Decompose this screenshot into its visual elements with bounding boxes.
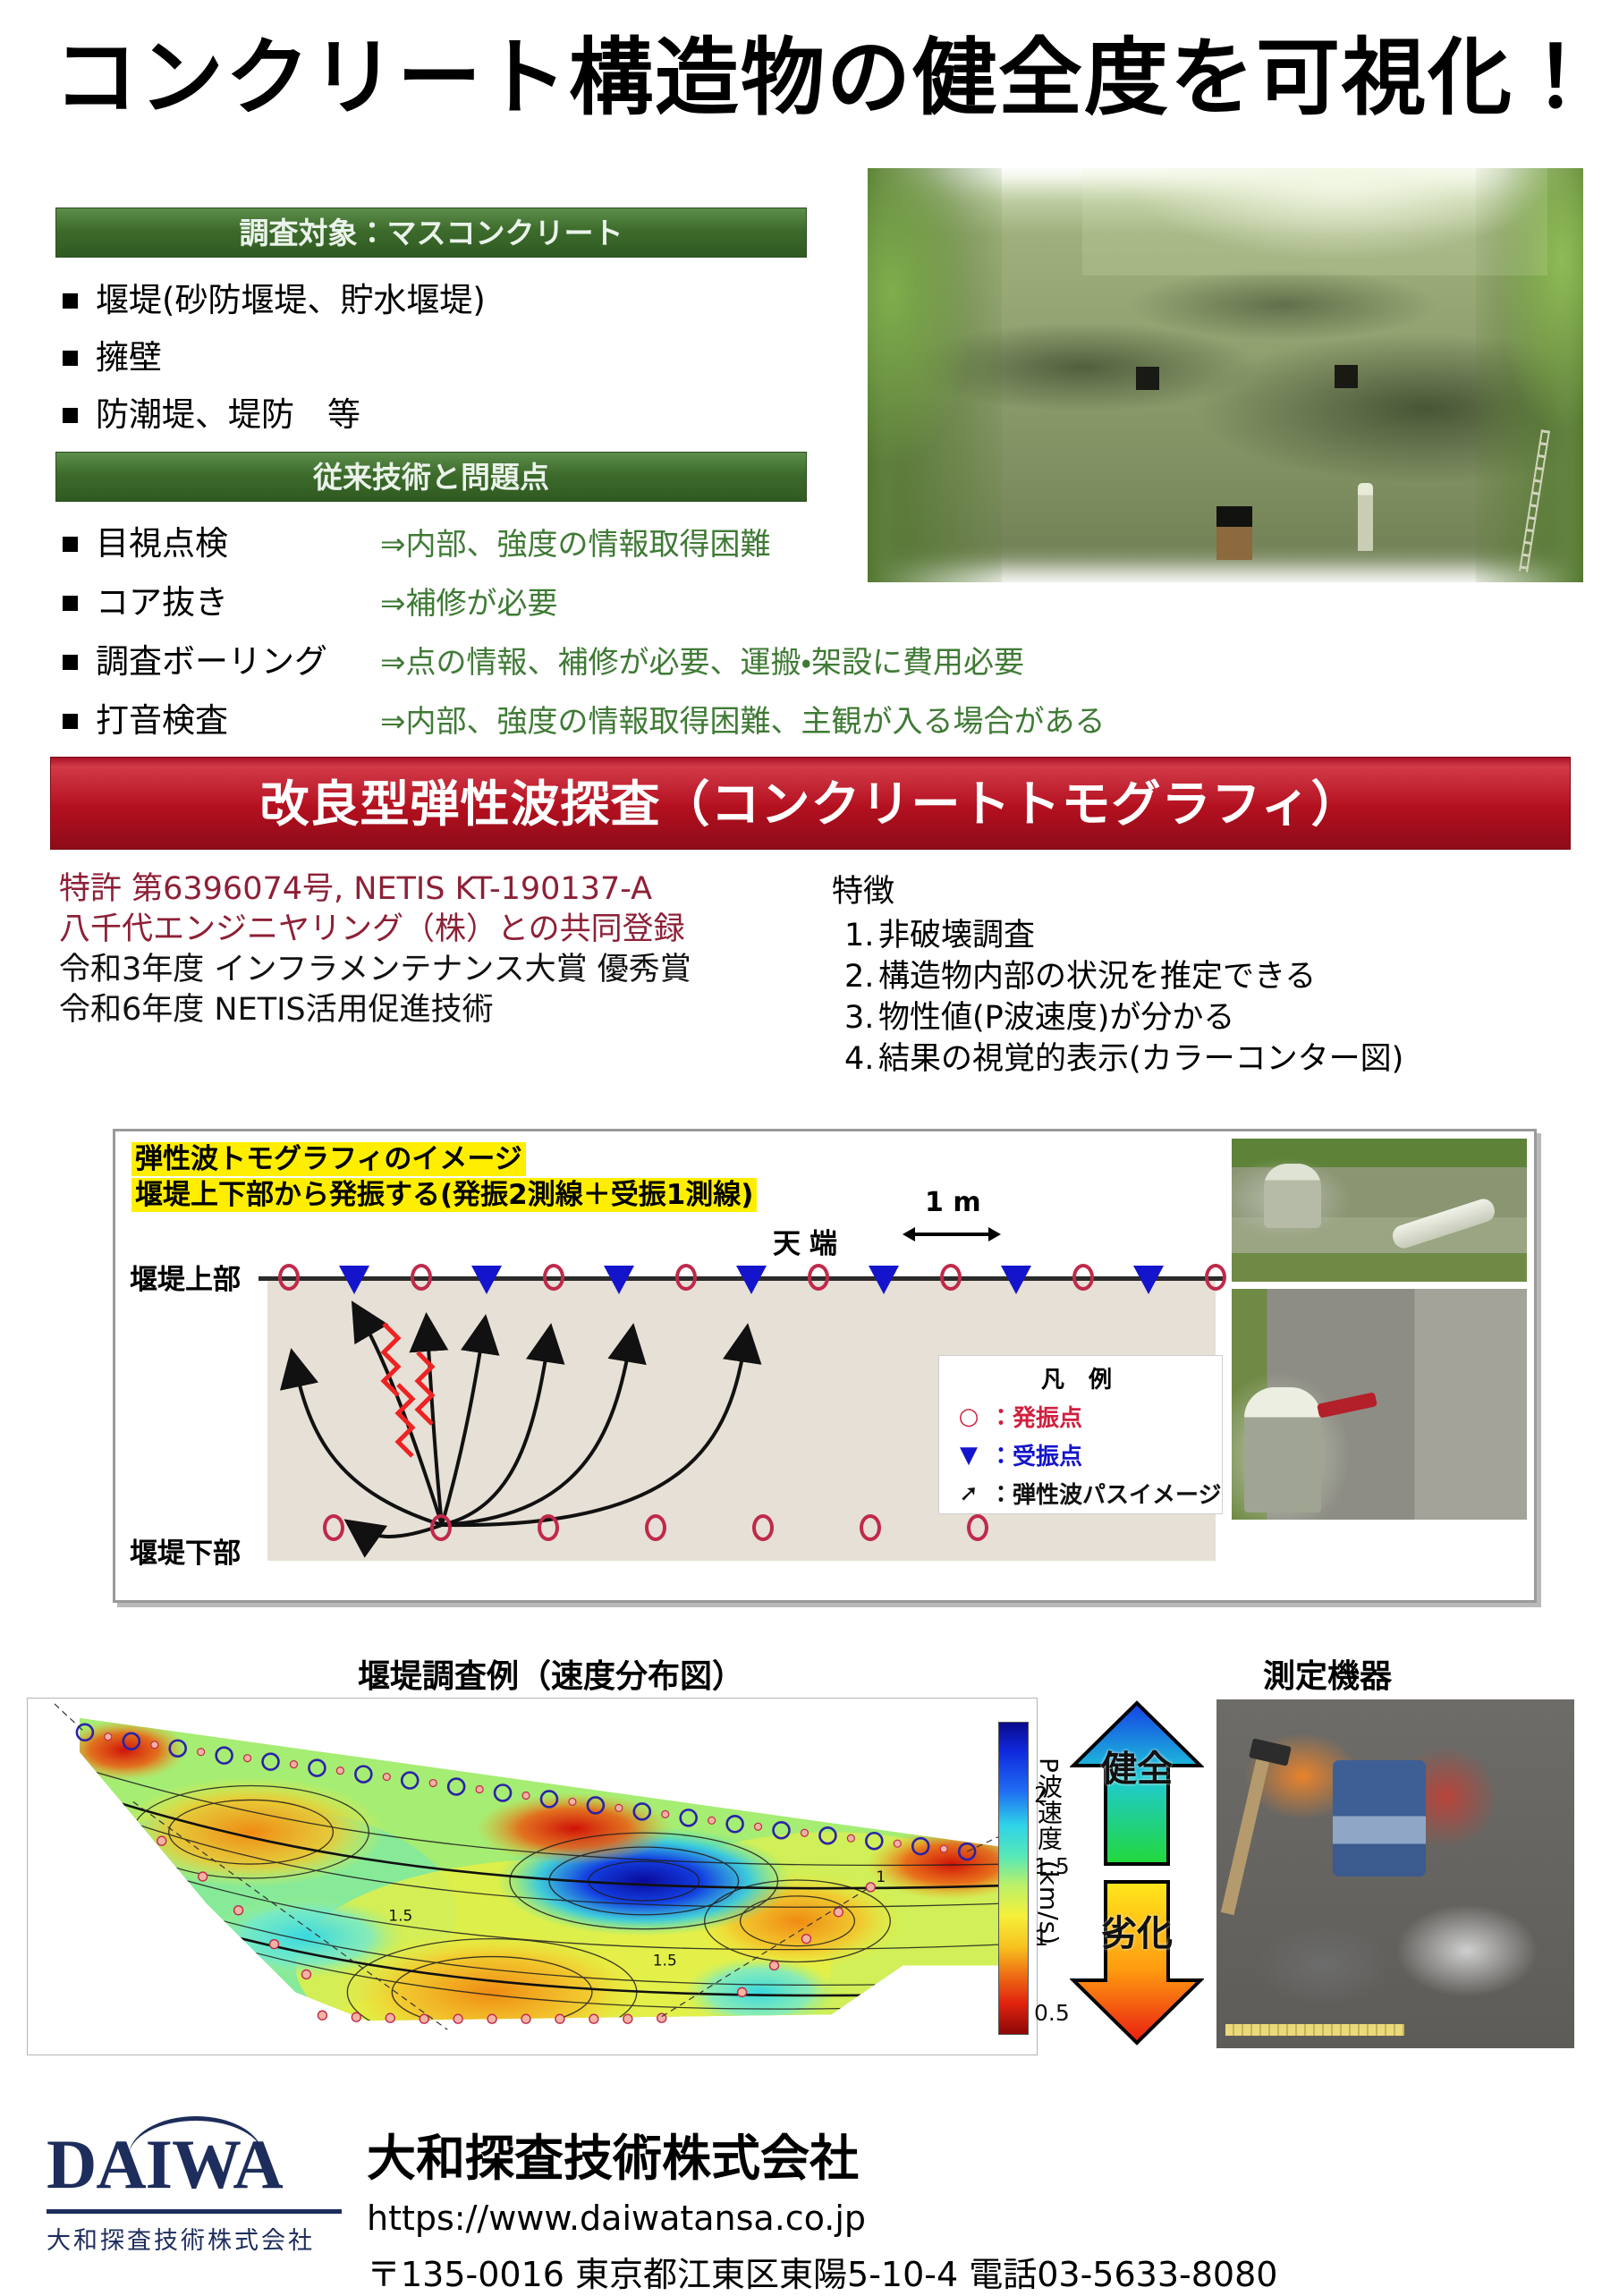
svg-text:1.5: 1.5 xyxy=(388,1907,412,1925)
worker-figure xyxy=(1244,1387,1321,1512)
company-address: 〒135-0016 東京都江東区東陽5-10-4 電話03-5633-8080 xyxy=(367,2247,1583,2296)
source-point-marker xyxy=(752,1514,774,1541)
svg-text:1: 1 xyxy=(876,1868,886,1885)
healthy-up-arrow: 健全 xyxy=(1070,1699,1204,1868)
sky-region xyxy=(1082,168,1547,275)
source-point-marker xyxy=(940,1264,962,1291)
field-photo-wall-survey xyxy=(1232,1289,1527,1520)
receiver-point-marker xyxy=(339,1266,369,1294)
measurement-equipment-photo xyxy=(1216,1699,1574,2048)
logo-rule xyxy=(47,2209,342,2214)
features-block: 特徴 1.非破壊調査 2.構造物内部の状況を推定できる 3.物性値(P波速度)が… xyxy=(832,866,1565,1080)
source-point-marker xyxy=(645,1514,666,1541)
schematic-title-line2: 堰堤上下部から発振する(発振2測線＋受振1測線) xyxy=(131,1178,757,1212)
logo-subtitle: 大和探査技術株式会社 xyxy=(47,2221,342,2256)
colorbar-axis-label: P波速度 (km/s) xyxy=(1030,1758,1066,1945)
svg-text:1.5: 1.5 xyxy=(653,1952,677,1970)
list-item: 4.結果の視覚的表示(カラーコンター図) xyxy=(832,1038,1565,1080)
receiver-point-marker xyxy=(869,1266,899,1294)
velocity-tomogram-chart: 1.5 1.5 1 凡例 ⊙ 起震点 ◎ 受振点 xyxy=(27,1698,1038,2055)
table-row: コア抜き⇒補修が必要 xyxy=(63,575,1404,623)
award-line: 令和3年度 インフラメンテナンス大賞 優秀賞 xyxy=(59,950,819,990)
seismograph-unit xyxy=(1333,1760,1426,1877)
schematic-legend: 凡 例 ○ ：発振点 ▼ ：受振点 ➚ ：弾性波パスイメージ xyxy=(938,1355,1223,1514)
receiver-triangle-icon: ▼ xyxy=(948,1442,989,1469)
receiver-point-marker xyxy=(471,1266,502,1294)
tomogram-colorfield: 1.5 1.5 1 xyxy=(28,1699,1037,2055)
survey-target-list: 堰堤(砂防堰堤、貯水堰堤) 擁壁 防潮堤、堤防 等 xyxy=(63,273,805,445)
company-name: 大和探査技術株式会社 xyxy=(367,2118,1583,2190)
features-heading: 特徴 xyxy=(832,866,1565,911)
hammer-tool xyxy=(1317,1392,1377,1418)
source-point-marker xyxy=(543,1264,564,1291)
list-item: 2.構造物内部の状況を推定できる xyxy=(832,956,1565,997)
technology-banner: 改良型弾性波探査（コンクリートトモグラフィ） xyxy=(50,757,1571,850)
label-dam-lower: 堰堤下部 xyxy=(130,1530,241,1571)
features-list: 1.非破壊調査 2.構造物内部の状況を推定できる 3.物性値(P波速度)が分かる… xyxy=(832,915,1565,1080)
company-logo: DAIWA 大和探査技術株式会社 xyxy=(47,2122,342,2274)
patent-info: 特許 第6396074号, NETIS KT-190137-A 八千代エンジニヤ… xyxy=(59,869,819,1030)
drain-hole xyxy=(1335,365,1358,388)
source-point-marker xyxy=(1072,1264,1094,1291)
receiver-point-marker xyxy=(1133,1266,1164,1294)
tomogram-caption: 堰堤調査例（速度分布図） xyxy=(358,1650,744,1697)
source-point-marker xyxy=(967,1514,988,1541)
square-bullet-icon xyxy=(63,537,78,552)
legend-row-source: ○ ：発振点 xyxy=(948,1400,1213,1433)
scale-double-arrow-icon xyxy=(903,1224,1001,1244)
square-bullet-icon xyxy=(63,351,78,366)
company-contact: 大和探査技術株式会社 https://www.daiwatansa.co.jp … xyxy=(367,2118,1583,2296)
source-point-marker xyxy=(808,1264,829,1291)
source-point-marker xyxy=(675,1264,697,1291)
source-point-marker xyxy=(538,1514,559,1541)
square-bullet-icon xyxy=(63,293,78,309)
source-point-marker xyxy=(860,1514,881,1541)
square-bullet-icon xyxy=(63,596,78,611)
receiver-point-marker xyxy=(1001,1266,1031,1294)
scale-label: 1 m xyxy=(925,1187,981,1218)
legend-row-path: ➚ ：弾性波パスイメージ xyxy=(948,1477,1213,1510)
source-circle-icon: ○ xyxy=(948,1403,989,1430)
healthy-label: 健全 xyxy=(1070,1750,1204,1789)
receiver-point-marker xyxy=(604,1266,634,1294)
list-item: 擁壁 xyxy=(63,330,805,378)
survey-target-banner: 調査対象：マスコンクリート xyxy=(55,208,807,258)
legacy-tech-list: 目視点検⇒内部、強度の情報取得困難 コア抜き⇒補修が必要 調査ボーリング⇒点の情… xyxy=(63,516,1404,752)
measuring-tape xyxy=(1225,2024,1404,2036)
table-row: 調査ボーリング⇒点の情報、補修が必要、運搬・架設に費用必要 xyxy=(63,634,1404,682)
award-line: 令和6年度 NETIS活用促進技術 xyxy=(59,990,819,1030)
patent-line: 八千代エンジニヤリング（株）との共同登録 xyxy=(59,910,819,950)
colorbar-tick: 0.5 xyxy=(1034,2000,1070,2026)
deteriorated-label: 劣化 xyxy=(1070,1914,1204,1953)
legacy-tech-banner: 従来技術と問題点 xyxy=(55,452,807,502)
label-dam-upper: 堰堤上部 xyxy=(130,1257,241,1297)
source-point-marker xyxy=(1205,1264,1226,1291)
velocity-colorbar xyxy=(998,1722,1029,2035)
equipment-caption: 測定機器 xyxy=(1263,1650,1392,1697)
schematic-title-line1: 弾性波トモグラフィのイメージ xyxy=(131,1142,526,1176)
worker-figure xyxy=(1264,1164,1321,1228)
tomography-schematic-panel: 弾性波トモグラフィのイメージ 堰堤上下部から発振する(発振2測線＋受振1測線) … xyxy=(113,1129,1537,1603)
sensor-pipe xyxy=(1390,1196,1497,1250)
list-item: 堰堤(砂防堰堤、貯水堰堤) xyxy=(63,273,805,321)
receiver-point-marker xyxy=(736,1266,767,1294)
table-row: 打音検査⇒内部、強度の情報取得困難、主観が入る場合がある xyxy=(63,693,1404,741)
company-url[interactable]: https://www.daiwatansa.co.jp xyxy=(367,2199,1583,2238)
deteriorated-down-arrow: 劣化 xyxy=(1070,1878,1204,2046)
list-item: 3.物性値(P波速度)が分かる xyxy=(832,997,1565,1038)
legend-row-receiver: ▼ ：受振点 xyxy=(948,1438,1213,1471)
page-title: コンクリート構造物の健全度を可視化！ xyxy=(54,25,1574,132)
label-crest: 天端 xyxy=(773,1221,846,1261)
down-arrow-icon xyxy=(1070,1878,1204,2046)
wave-path-arrow-icon: ➚ xyxy=(948,1480,989,1507)
table-row: 目視点検⇒内部、強度の情報取得困難 xyxy=(63,516,1404,564)
patent-line: 特許 第6396074号, NETIS KT-190137-A xyxy=(59,869,819,910)
drain-hole xyxy=(1136,367,1159,390)
source-point-marker xyxy=(430,1514,452,1541)
field-photo-crest-survey xyxy=(1232,1139,1527,1282)
source-point-marker xyxy=(278,1264,300,1291)
source-point-marker xyxy=(411,1264,432,1291)
square-bullet-icon xyxy=(63,714,78,729)
legend-heading: 凡 例 xyxy=(948,1361,1213,1394)
sledgehammer-handle xyxy=(1221,1747,1272,1916)
square-bullet-icon xyxy=(63,408,78,423)
list-item: 1.非破壊調査 xyxy=(832,915,1565,956)
source-point-marker xyxy=(323,1514,344,1541)
list-item: 防潮堤、堤防 等 xyxy=(63,387,805,436)
square-bullet-icon xyxy=(63,655,78,670)
